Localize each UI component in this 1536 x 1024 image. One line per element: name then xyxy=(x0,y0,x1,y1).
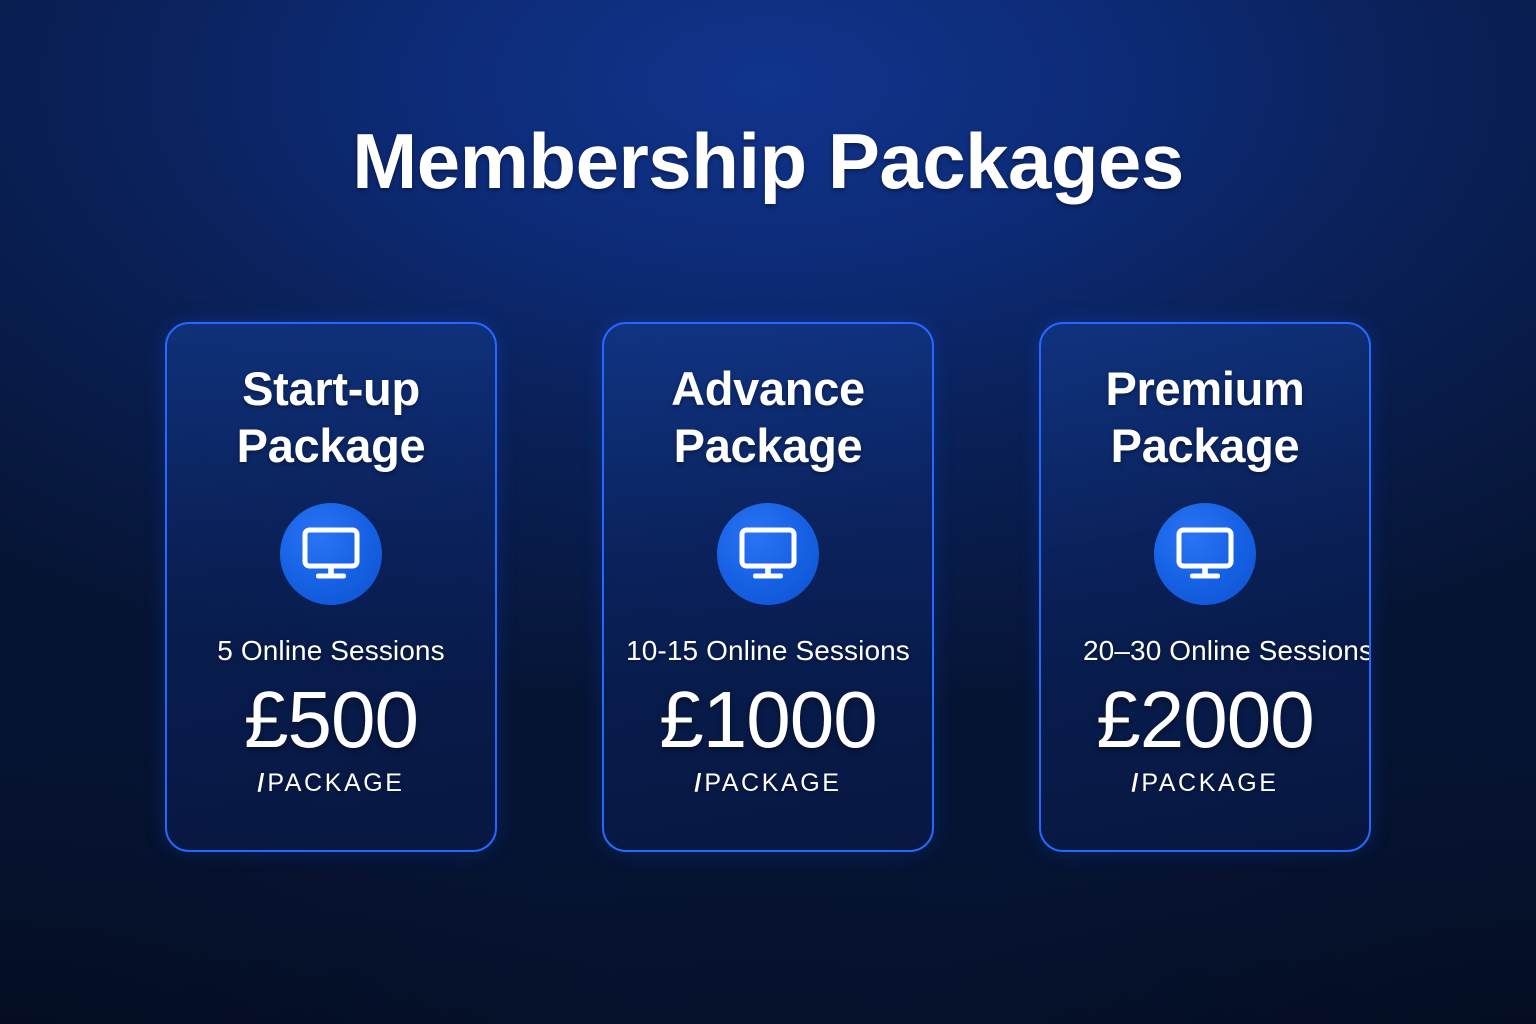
monitor-icon-badge xyxy=(717,503,819,605)
price-amount: £500 xyxy=(167,677,495,763)
package-card-list: Start-up Package 5 Online Sessions £500 … xyxy=(165,322,1371,852)
price-period: /PACKAGE xyxy=(167,769,495,798)
page-title: Membership Packages xyxy=(0,121,1536,203)
monitor-icon xyxy=(1176,527,1234,581)
package-card-advance[interactable]: Advance Package 10-15 Online Sessions £1… xyxy=(602,322,934,852)
monitor-icon xyxy=(302,527,360,581)
period-label: PACKAGE xyxy=(1141,769,1278,797)
package-card-premium[interactable]: Premium Package 20–30 Online Sessions £2… xyxy=(1039,322,1371,852)
monitor-icon xyxy=(739,527,797,581)
monitor-icon-badge xyxy=(1154,503,1256,605)
slash-separator: / xyxy=(1131,769,1138,797)
package-title: Advance Package xyxy=(604,360,932,475)
price-amount: £2000 xyxy=(1041,677,1369,763)
period-label: PACKAGE xyxy=(267,769,404,797)
monitor-icon-badge xyxy=(280,503,382,605)
period-label: PACKAGE xyxy=(704,769,841,797)
sessions-label: 20–30 Online Sessions xyxy=(1041,635,1369,667)
price-amount: £1000 xyxy=(604,677,932,763)
price-period: /PACKAGE xyxy=(1041,769,1369,798)
membership-packages-page: Membership Packages Start-up Package 5 O… xyxy=(0,0,1536,1024)
price-period: /PACKAGE xyxy=(604,769,932,798)
package-title: Start-up Package xyxy=(167,360,495,475)
package-title: Premium Package xyxy=(1041,360,1369,475)
slash-separator: / xyxy=(694,769,701,797)
sessions-label: 10-15 Online Sessions xyxy=(604,635,932,667)
package-card-startup[interactable]: Start-up Package 5 Online Sessions £500 … xyxy=(165,322,497,852)
slash-separator: / xyxy=(257,769,264,797)
sessions-label: 5 Online Sessions xyxy=(167,635,495,667)
